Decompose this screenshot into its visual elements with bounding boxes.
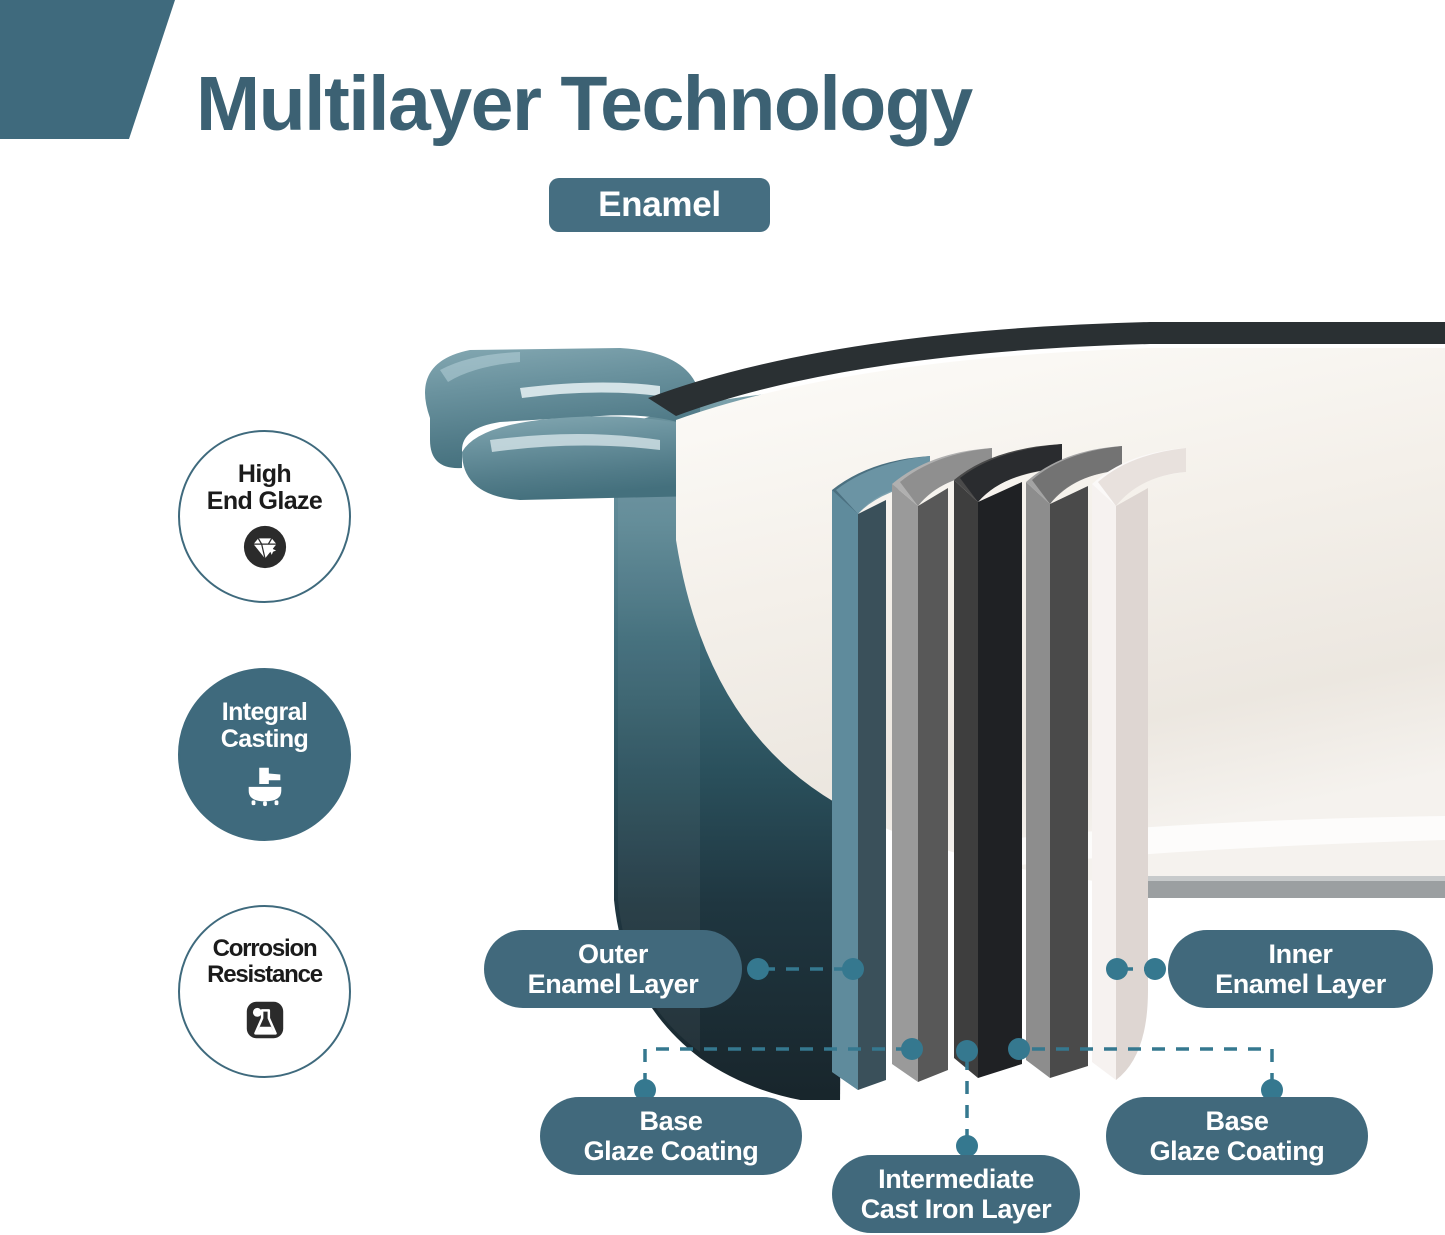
connector-dot-outer-pill [747, 958, 769, 980]
callout-label: Base Glaze Coating [584, 1106, 759, 1166]
pot-interior [648, 322, 1445, 898]
connector-dot-inner-layer [1106, 958, 1128, 980]
feature-label: High End Glaze [207, 461, 322, 515]
connector-dot-base-right-layer [1008, 1038, 1030, 1060]
flask-icon [242, 997, 288, 1043]
callout-label: Intermediate Cast Iron Layer [861, 1164, 1052, 1224]
connector-dot-inner-pill [1144, 958, 1166, 980]
subtitle-badge-label: Enamel [598, 185, 721, 225]
connector-dot-base-left-layer [901, 1038, 923, 1060]
callout-label: Outer Enamel Layer [528, 939, 699, 999]
feature-badge-integral-casting[interactable]: Integral Casting [178, 668, 351, 841]
feature-label: Integral Casting [221, 699, 308, 753]
callout-label: Base Glaze Coating [1150, 1106, 1325, 1166]
callout-inner-enamel-layer[interactable]: Inner Enamel Layer [1168, 930, 1433, 1008]
connector-dot-intermediate-layer [956, 1040, 978, 1062]
pot-handle [425, 348, 700, 500]
connector-base-glaze-right [1022, 1049, 1272, 1086]
callout-base-glaze-coating-left[interactable]: Base Glaze Coating [540, 1097, 802, 1175]
corner-accent-shape [0, 0, 175, 139]
diamond-gem-icon [242, 524, 288, 570]
callout-base-glaze-coating-right[interactable]: Base Glaze Coating [1106, 1097, 1368, 1175]
connector-dot-intermediate-pill [956, 1135, 978, 1157]
subtitle-badge: Enamel [549, 178, 770, 232]
connector-base-glaze-left [645, 1049, 909, 1086]
cast-iron-pot-icon [242, 762, 288, 808]
callout-label: Inner Enamel Layer [1215, 939, 1386, 999]
connector-dot-outer-layer [842, 958, 864, 980]
infographic-canvas: Multilayer Technology Enamel [0, 0, 1445, 1235]
feature-label: Corrosion Resistance [207, 936, 322, 988]
feature-badge-high-end-glaze[interactable]: High End Glaze [178, 430, 351, 603]
page-title: Multilayer Technology [196, 66, 972, 143]
callout-intermediate-cast-iron-layer[interactable]: Intermediate Cast Iron Layer [832, 1155, 1080, 1233]
callout-outer-enamel-layer[interactable]: Outer Enamel Layer [484, 930, 742, 1008]
layer-outer-enamel-top [832, 456, 930, 1090]
feature-badge-corrosion-resistance[interactable]: Corrosion Resistance [178, 905, 351, 1078]
layer-stack [832, 444, 1186, 1090]
